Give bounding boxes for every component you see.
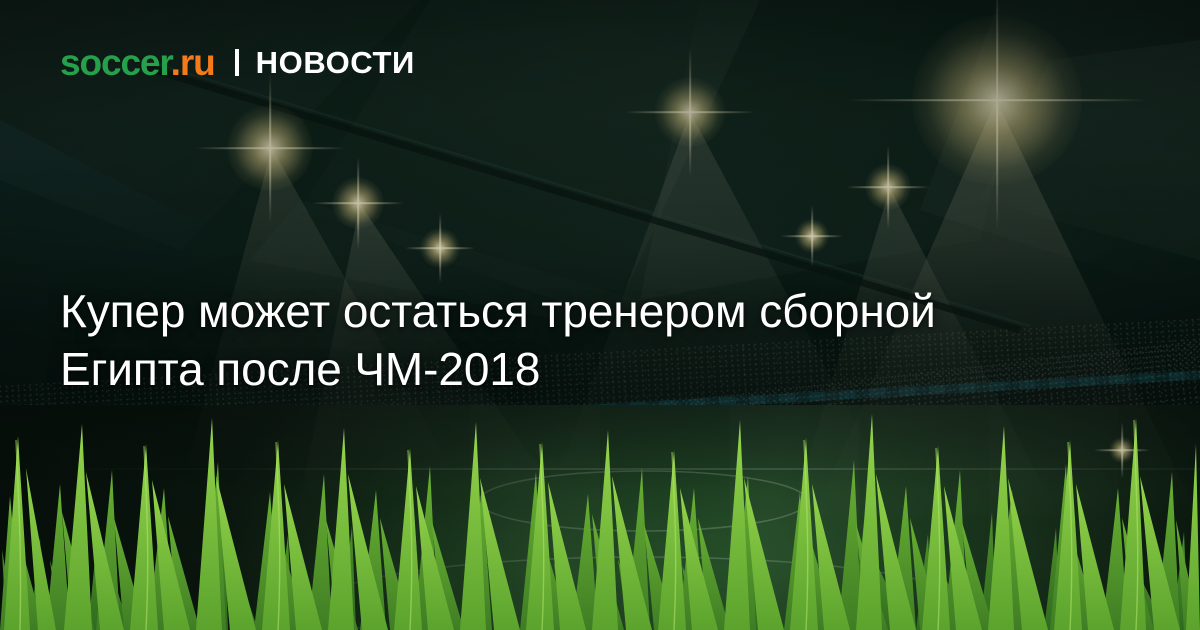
foreground-grass	[0, 400, 1200, 630]
logo-word: soccer	[60, 42, 171, 83]
news-share-card: soccer.ru НОВОСТИ Купер может остаться т…	[0, 0, 1200, 630]
headline: Купер может остаться тренером сборной Ег…	[60, 282, 1020, 398]
soccer-ru-logo[interactable]: soccer.ru	[60, 44, 215, 81]
section-label: НОВОСТИ	[256, 47, 415, 78]
brand-row[interactable]: soccer.ru НОВОСТИ	[60, 44, 415, 81]
brand-separator	[235, 49, 239, 76]
logo-tld: .ru	[171, 42, 215, 83]
